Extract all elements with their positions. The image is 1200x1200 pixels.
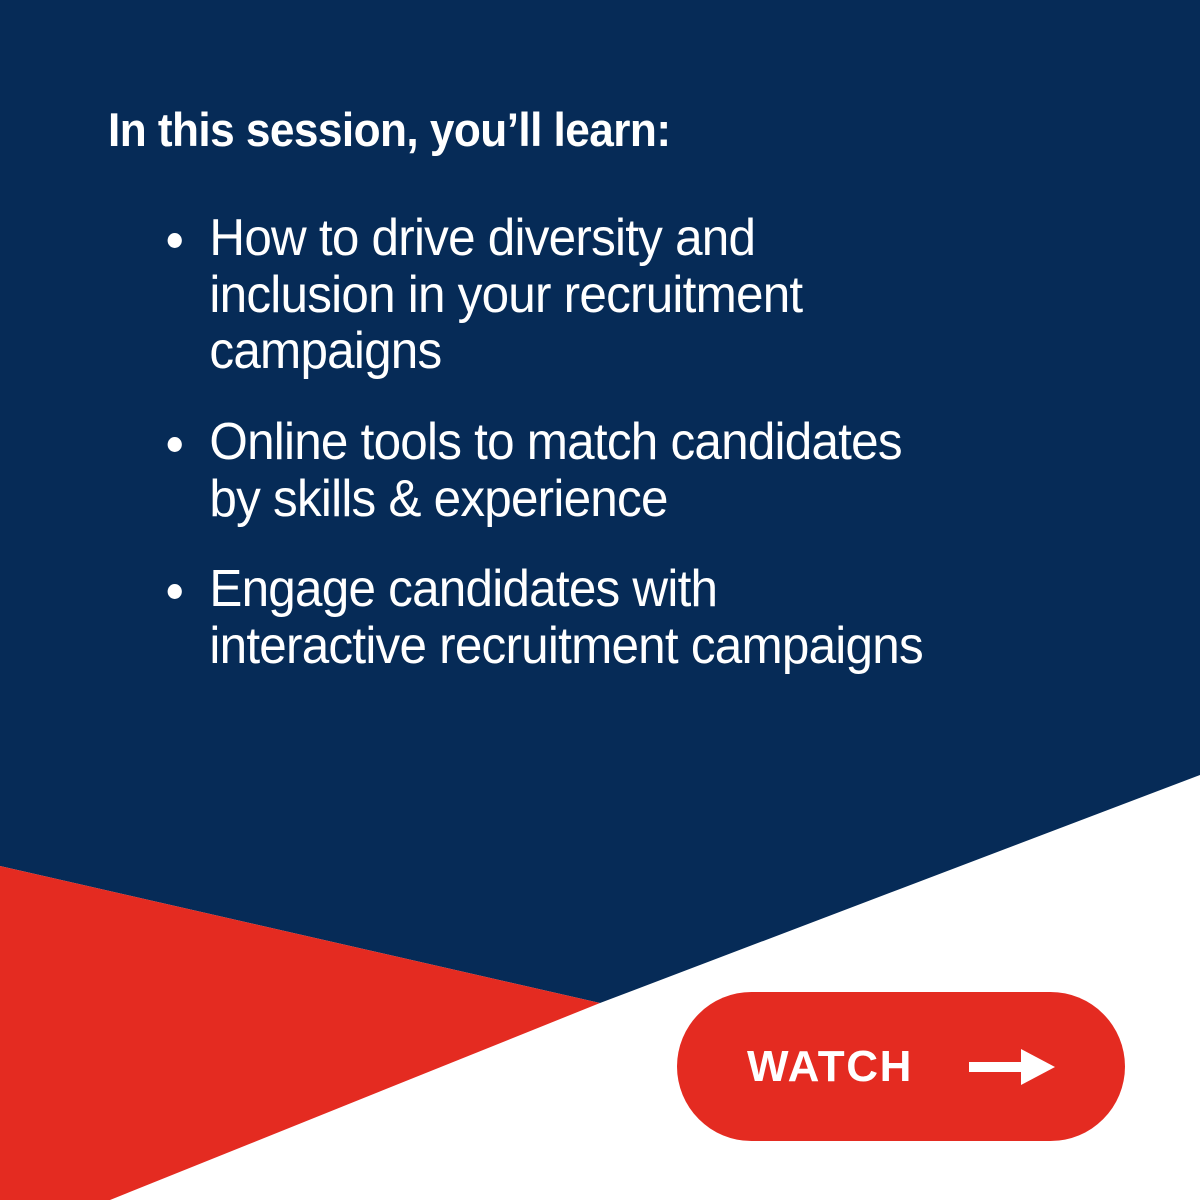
promo-poster: In this session, you’ll learn: How to dr… <box>0 0 1200 1200</box>
bullet-dot-icon <box>168 437 182 452</box>
list-item-label: Engage candidates with interactive recru… <box>209 561 931 674</box>
bullet-dot-icon <box>168 233 182 248</box>
watch-button-label: WATCH <box>747 1045 913 1089</box>
bullet-dot-icon <box>168 584 182 599</box>
list-item: Online tools to match candidates by skil… <box>160 414 996 527</box>
list-item-label: Online tools to match candidates by skil… <box>209 414 931 527</box>
page-title: In this session, you’ll learn: <box>108 104 954 156</box>
watch-button[interactable]: WATCH <box>677 992 1125 1141</box>
list-item-label: How to drive diversity and inclusion in … <box>209 210 931 380</box>
session-learning-points: How to drive diversity and inclusion in … <box>160 210 1040 675</box>
arrow-right-icon <box>969 1047 1055 1087</box>
list-item: Engage candidates with interactive recru… <box>160 561 996 674</box>
list-item: How to drive diversity and inclusion in … <box>160 210 996 380</box>
